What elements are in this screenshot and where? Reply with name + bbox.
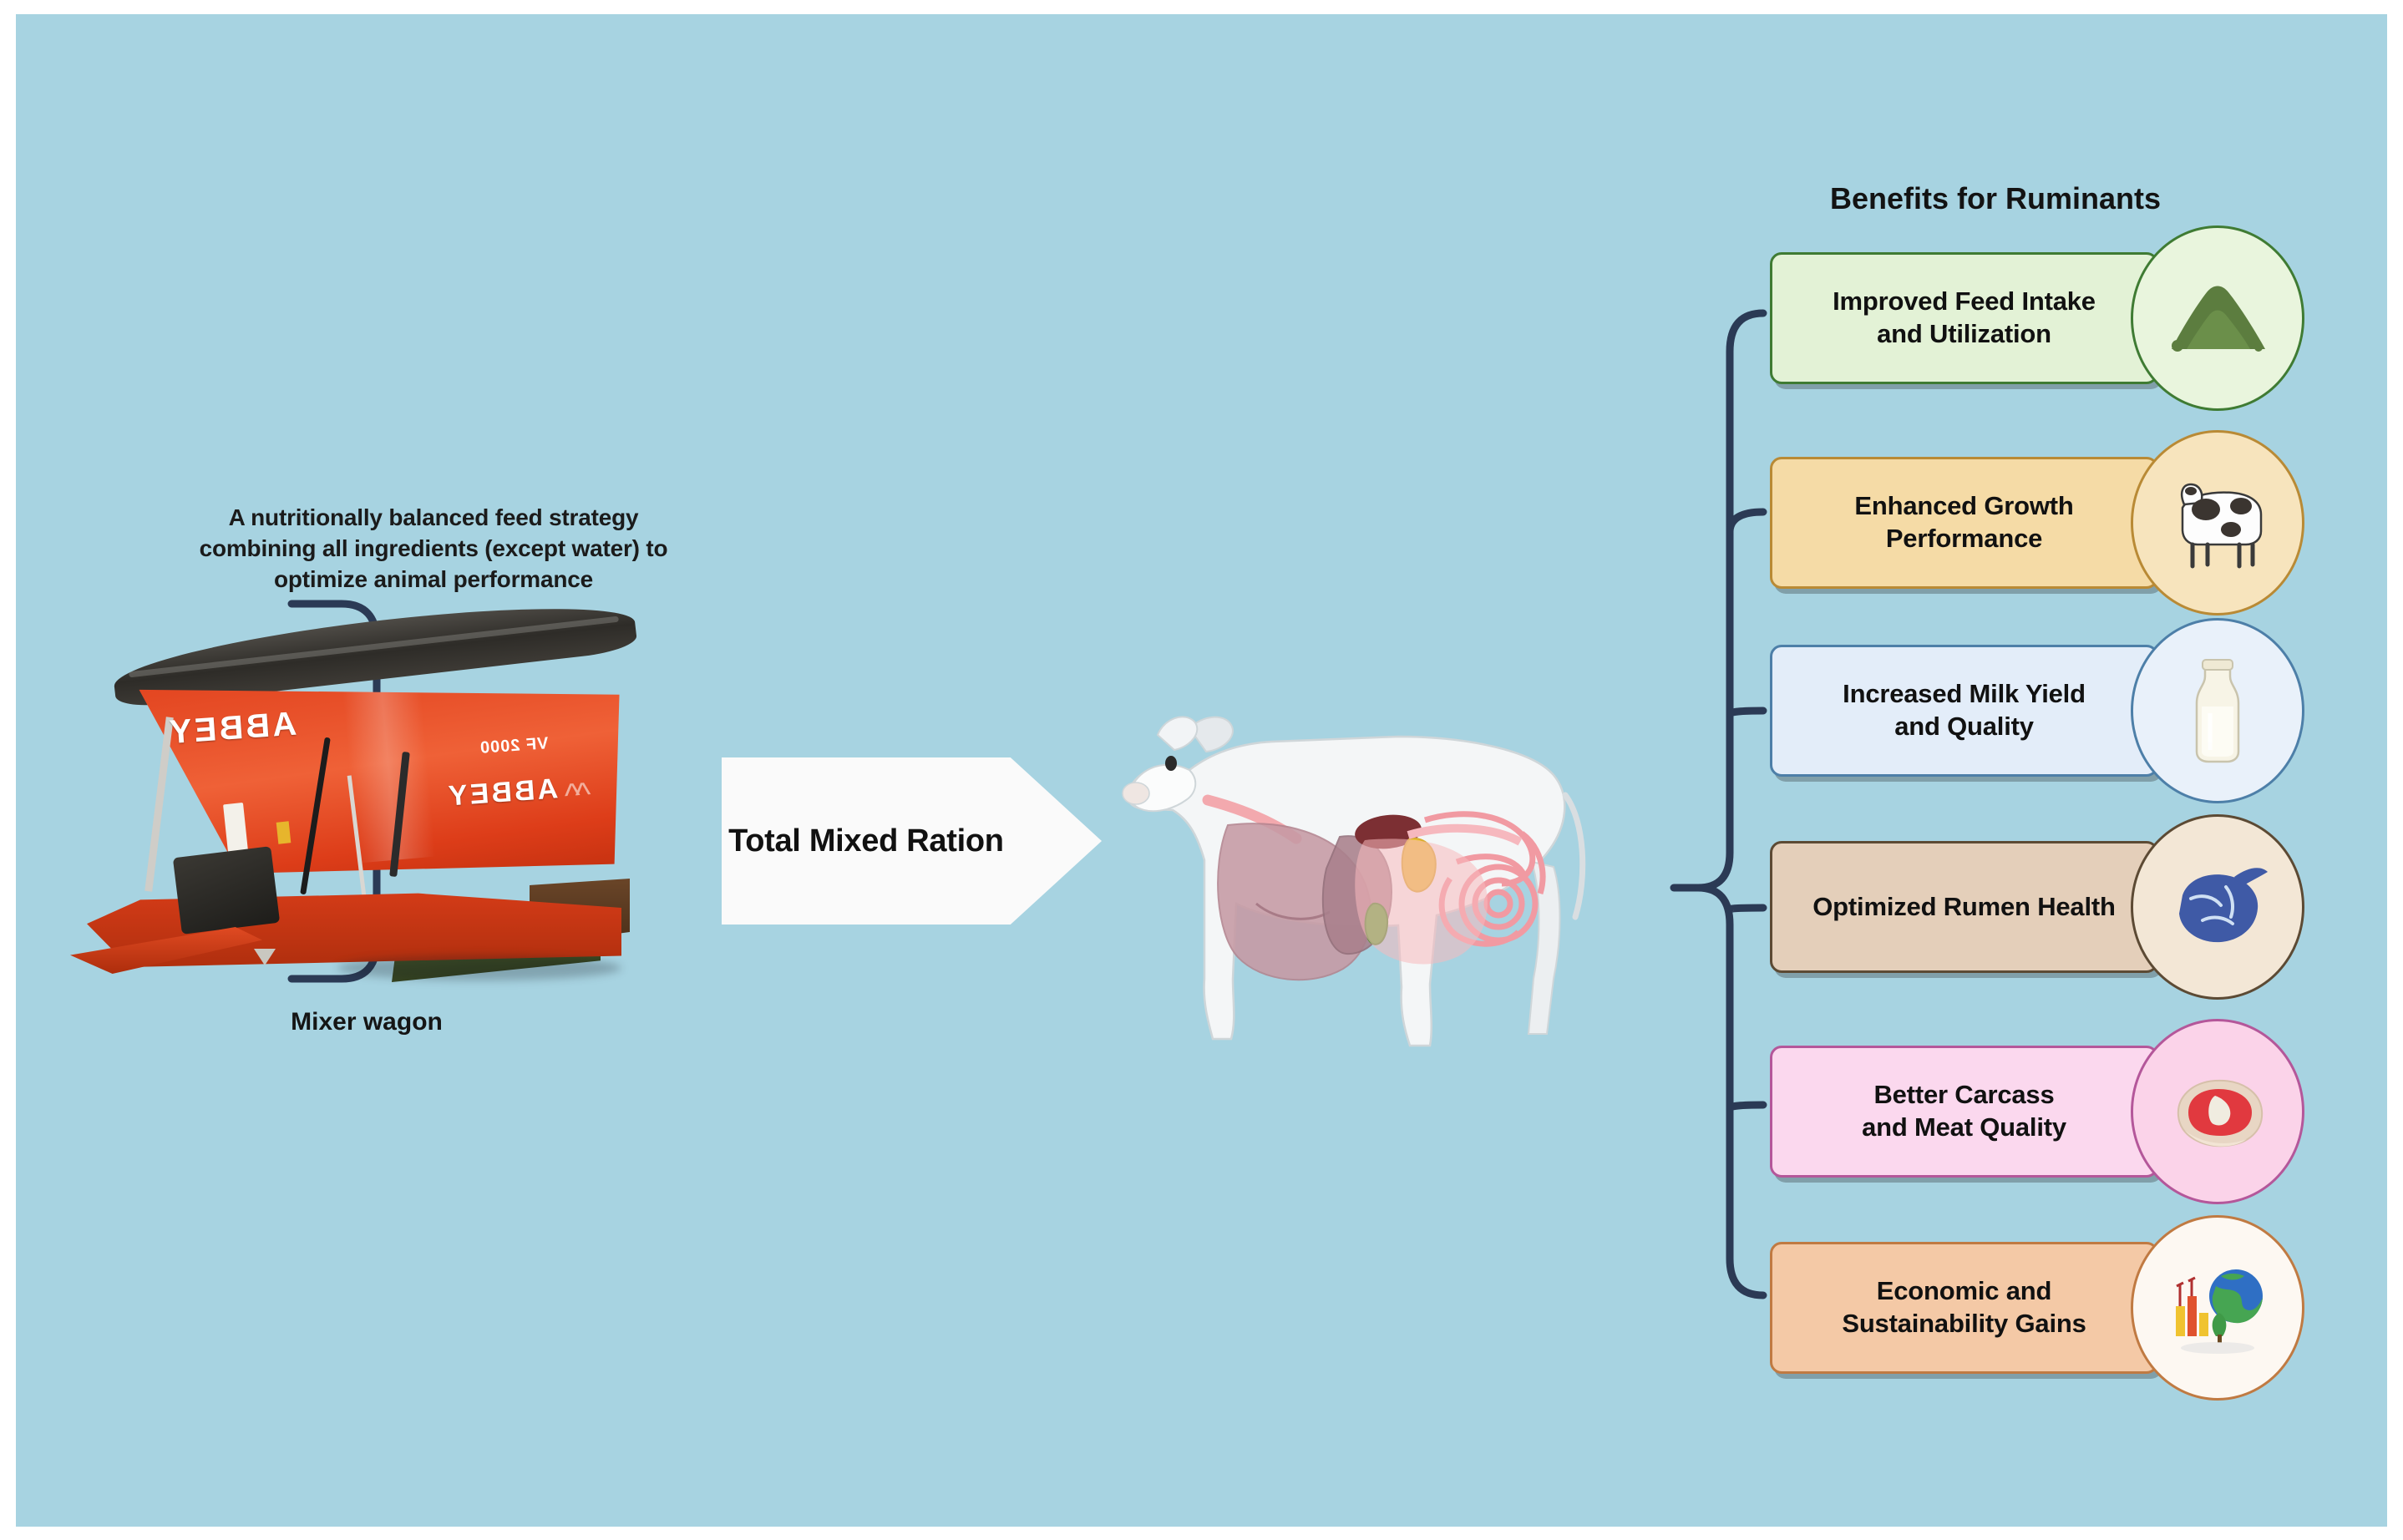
meat-cut-icon xyxy=(2131,1019,2304,1204)
mixer-wagon-photo: ABBEY VF 2000 ABBEY ^^ xyxy=(62,611,663,1012)
cow-icon xyxy=(2131,430,2304,615)
benefit-item-improved-feed-intake[interactable]: Improved Feed Intake and Utilization xyxy=(1770,252,2158,384)
benefit-label: Improved Feed Intake and Utilization xyxy=(1833,286,2096,351)
benefit-item-better-carcass[interactable]: Better Carcass and Meat Quality xyxy=(1770,1046,2158,1178)
caption-line-2: combining all ingredients (except water)… xyxy=(116,534,751,565)
cow-anatomy-illustration xyxy=(1064,628,1649,1096)
cow-muzzle xyxy=(1123,783,1149,804)
benefit-box[interactable]: Increased Milk Yield and Quality xyxy=(1770,645,2158,777)
branch-to-benefit-1 xyxy=(1730,512,1763,532)
rumen-icon xyxy=(2131,814,2304,1000)
benefit-label: Increased Milk Yield and Quality xyxy=(1843,678,2086,743)
economy-sustainability-icon xyxy=(2131,1215,2304,1401)
benefit-item-optimized-rumen-health[interactable]: Optimized Rumen Health xyxy=(1770,841,2158,973)
branch-to-benefit-2 xyxy=(1730,711,1763,714)
bracket-right-lower-spine xyxy=(1698,888,1763,1295)
benefit-item-economic-sustainability[interactable]: Economic and Sustainability Gains xyxy=(1770,1242,2158,1374)
wagon-chevron-icon: ^^ xyxy=(568,776,592,815)
benefit-label: Economic and Sustainability Gains xyxy=(1842,1275,2086,1340)
wagon-decal-yellow xyxy=(276,821,292,843)
cow-tail xyxy=(1565,795,1583,917)
benefit-label: Better Carcass and Meat Quality xyxy=(1862,1079,2066,1144)
benefit-box[interactable]: Optimized Rumen Health xyxy=(1770,841,2158,973)
wagon-gearbox xyxy=(173,846,280,935)
caption-line-1: A nutritionally balanced feed strategy xyxy=(116,503,751,534)
tmr-definition-caption: A nutritionally balanced feed strategy c… xyxy=(116,503,751,595)
bracket-right-spine-upper xyxy=(1674,442,1731,888)
benefit-box[interactable]: Better Carcass and Meat Quality xyxy=(1770,1046,2158,1178)
branch-to-benefit-3 xyxy=(1730,908,1763,909)
milk-fill xyxy=(2202,707,2233,757)
cow-ear-right xyxy=(1158,717,1197,750)
cow-legs xyxy=(2193,545,2253,566)
benefit-label: Enhanced Growth Performance xyxy=(1854,490,2073,555)
bottle-cap xyxy=(2203,660,2233,670)
benefit-box[interactable]: Enhanced Growth Performance xyxy=(1770,457,2158,589)
benefit-item-increased-milk-yield[interactable]: Increased Milk Yield and Quality xyxy=(1770,645,2158,777)
rumen-sac xyxy=(2179,874,2258,942)
benefit-box[interactable]: Improved Feed Intake and Utilization xyxy=(1770,252,2158,384)
panel-title: Benefits for Ruminants xyxy=(1770,181,2221,216)
bar-1 xyxy=(2176,1306,2185,1336)
bracket-right-upper-spine xyxy=(1698,313,1763,888)
mixer-wagon-label: Mixer wagon xyxy=(233,1008,500,1036)
bar-2 xyxy=(2188,1296,2197,1336)
benefit-box[interactable]: Economic and Sustainability Gains xyxy=(1770,1242,2158,1374)
branch-to-benefit-4 xyxy=(1730,1105,1763,1108)
benefit-label: Optimized Rumen Health xyxy=(1812,891,2115,924)
bar-3 xyxy=(2199,1313,2208,1336)
cow-eye xyxy=(1165,756,1177,771)
tmr-arrow-label: Total Mixed Ration xyxy=(722,823,1011,859)
wagon-ground-shadow xyxy=(337,955,621,980)
diagram-canvas: A nutritionally balanced feed strategy c… xyxy=(16,14,2387,1527)
caption-line-3: optimize animal performance xyxy=(116,565,751,595)
milk-bottle-icon xyxy=(2131,618,2304,803)
feed-pile-icon xyxy=(2131,225,2304,411)
benefit-item-enhanced-growth[interactable]: Enhanced Growth Performance xyxy=(1770,457,2158,589)
